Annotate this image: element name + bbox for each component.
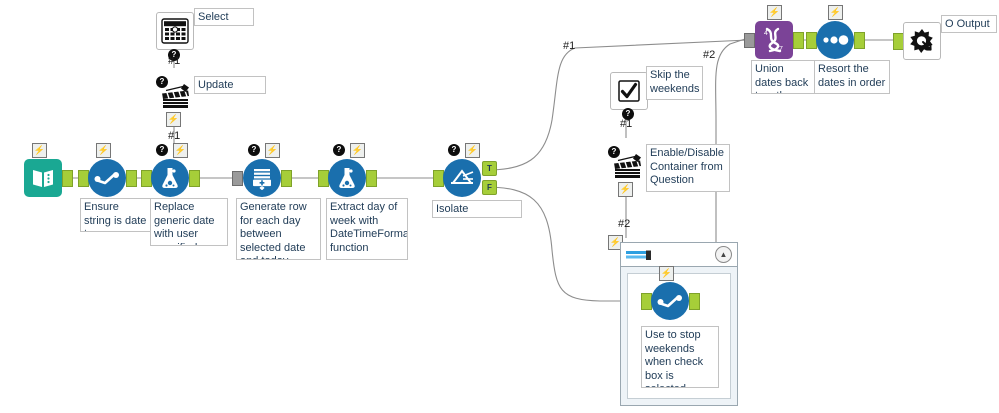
- node-filter[interactable]: ? ⚡ T F: [443, 159, 481, 197]
- annotation-filter: Isolate weekends: [432, 200, 522, 218]
- generate-rows-glyph: [250, 166, 274, 190]
- action-clapperboard-icon: [156, 76, 194, 114]
- bolt-badge-icon: ⚡: [96, 143, 111, 158]
- filter-funnel-glyph: [449, 167, 475, 189]
- book-icon-glyph: [31, 167, 55, 189]
- node-sort[interactable]: ⚡: [816, 21, 854, 59]
- container-header[interactable]: ▲: [621, 243, 737, 267]
- bolt-badge-icon: ⚡: [173, 143, 188, 158]
- container-tool-icon: [626, 249, 652, 260]
- clapperboard-glyph: [610, 150, 644, 180]
- question-badge-icon: ?: [248, 144, 260, 156]
- wire-label-checkbox-to-action: #1: [620, 118, 632, 130]
- input-connector[interactable]: [744, 33, 755, 48]
- macro-output-gear-icon: [903, 22, 941, 60]
- wire-label-date-to-action: #1: [168, 55, 180, 67]
- filter-funnel-icon: [443, 159, 481, 197]
- node-select-1[interactable]: ⚡: [88, 159, 126, 197]
- question-badge-icon: ?: [448, 144, 460, 156]
- annotation-select-1: Ensure string is date type: [80, 198, 151, 232]
- union-icon: 4 7: [755, 21, 793, 59]
- input-connector[interactable]: [232, 171, 243, 186]
- annotation-action-update-value: Update Value: [194, 76, 266, 94]
- formula-flask-glyph: [336, 166, 358, 190]
- sort-icon: [816, 21, 854, 59]
- chevron-up-icon[interactable]: ▲: [715, 246, 732, 263]
- output-connector[interactable]: [854, 32, 865, 49]
- annotation-checkbox-tool: Skip the weekends: [646, 66, 703, 100]
- bolt-badge-icon: ⚡: [659, 266, 674, 281]
- node-formula-2[interactable]: ? ⚡: [328, 159, 366, 197]
- node-formula-1[interactable]: ? ⚡: [151, 159, 189, 197]
- output-connector[interactable]: [689, 293, 700, 310]
- wire-label-union-in-2: #2: [703, 49, 715, 61]
- node-date-tool[interactable]: ?: [156, 12, 194, 50]
- select-icon-glyph: [657, 294, 683, 308]
- checkbox-icon: [610, 72, 648, 110]
- svg-text:7: 7: [779, 46, 783, 53]
- select-icon-glyph: [94, 171, 120, 185]
- bolt-badge-icon: ⚡: [265, 143, 280, 158]
- output-connector[interactable]: [793, 32, 804, 49]
- node-macro-output[interactable]: [903, 22, 941, 60]
- node-generate-rows[interactable]: ? ⚡: [243, 159, 281, 197]
- output-connector-true[interactable]: T: [482, 161, 497, 176]
- bolt-badge-icon: ⚡: [767, 5, 782, 20]
- formula-flask-icon: [328, 159, 366, 197]
- output-connector[interactable]: [126, 170, 137, 187]
- annotation-generate-rows: Generate row for each day between select…: [236, 198, 321, 260]
- union-glyph: 4 7: [760, 26, 788, 54]
- action-clapperboard-icon: [608, 146, 646, 184]
- annotation-union: Union dates back together: [751, 60, 817, 94]
- clapperboard-glyph: [158, 80, 192, 110]
- formula-flask-icon: [151, 159, 189, 197]
- output-connector-false[interactable]: F: [482, 180, 497, 195]
- annotation-formula-1: Replace generic date with user specified: [150, 198, 228, 246]
- sort-glyph: [821, 33, 849, 47]
- annotation-container-select: Use to stop weekends when check box is s…: [641, 326, 719, 388]
- checkbox-glyph: [617, 79, 641, 103]
- calendar-glyph: [161, 18, 189, 44]
- output-connector[interactable]: [366, 170, 377, 187]
- annotation-date-tool: Select Date: [194, 8, 254, 26]
- formula-flask-glyph: [159, 166, 181, 190]
- macro-output-gear-glyph: [908, 27, 936, 55]
- output-connector[interactable]: [189, 170, 200, 187]
- output-connector[interactable]: [281, 170, 292, 187]
- bolt-badge-icon: ⚡: [32, 143, 47, 158]
- output-connector[interactable]: [62, 170, 73, 187]
- bolt-badge-icon: ⚡: [465, 143, 480, 158]
- wire-label-action-to-formula: #1: [168, 130, 180, 142]
- annotation-action-enable-disable: Enable/Disable Container from Question: [646, 144, 730, 192]
- annotation-macro-output: O Output: [941, 15, 997, 33]
- wire-label-union-in-1: #1: [563, 40, 575, 52]
- question-badge-icon: ?: [156, 144, 168, 156]
- node-checkbox-tool[interactable]: ?: [610, 72, 648, 110]
- bolt-badge-icon: ⚡: [166, 112, 181, 127]
- workflow-canvas[interactable]: ⚡ ⚡ Ensure string is date type ?: [0, 0, 999, 413]
- select-icon: [651, 282, 689, 320]
- bolt-badge-icon: ⚡: [618, 182, 633, 197]
- bolt-badge-icon: ⚡: [350, 143, 365, 158]
- node-action-update-value[interactable]: ? ⚡: [156, 76, 194, 114]
- generate-rows-icon: [243, 159, 281, 197]
- question-badge-icon: ?: [333, 144, 345, 156]
- node-container-select[interactable]: ⚡: [651, 282, 689, 320]
- node-union[interactable]: ⚡ 4 7: [755, 21, 793, 59]
- node-action-enable-disable[interactable]: ? ⚡: [608, 146, 646, 184]
- node-text-input[interactable]: ⚡: [24, 159, 62, 197]
- annotation-sort: Resort the dates in order: [814, 60, 890, 94]
- container-tool-glyph: [626, 250, 652, 262]
- bolt-badge-icon: ⚡: [828, 5, 843, 20]
- annotation-formula-2: Extract day of week with DateTimeFormat …: [326, 198, 408, 260]
- calendar-icon: [156, 12, 194, 50]
- select-icon: [88, 159, 126, 197]
- wire-label-action2-to-container: #2: [618, 218, 630, 230]
- book-icon: [24, 159, 62, 197]
- svg-text:4: 4: [764, 30, 768, 37]
